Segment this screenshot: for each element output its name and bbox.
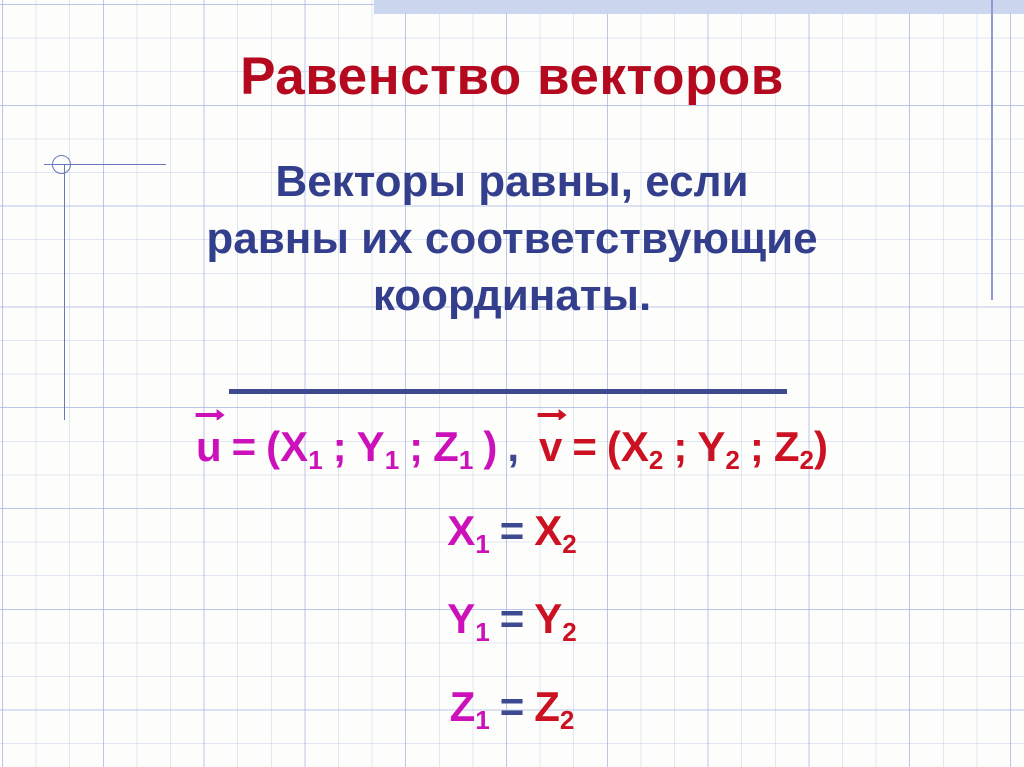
vector-v: v (539, 424, 562, 468)
v-equals: = (572, 423, 597, 470)
eq-y-operator: = (500, 595, 525, 642)
slide-canvas: Равенство векторов Векторы равны, если р… (0, 0, 1024, 767)
statement-line-1: Векторы равны, если (38, 153, 986, 210)
equation-row-y: Y1=Y2 (0, 598, 1024, 645)
formula-comma: , (507, 423, 519, 470)
eq-x-operator: = (500, 507, 525, 554)
v-sep-1: ; (673, 423, 687, 470)
right-vertical-rule (991, 0, 993, 300)
v-z: Z2 (774, 423, 814, 470)
page-title: Равенство векторов (0, 50, 1024, 103)
u-y: Y1 (357, 423, 400, 470)
u-sep-1: ; (333, 423, 347, 470)
eq-z-left: Z1 (450, 683, 490, 730)
eq-y-left: Y1 (447, 595, 490, 642)
v-x: X2 (621, 423, 664, 470)
equation-row-x: X1=X2 (0, 510, 1024, 557)
u-sep-2: ; (409, 423, 423, 470)
eq-x-left: X1 (447, 507, 490, 554)
statement-block: Векторы равны, если равны их соответству… (38, 153, 986, 325)
eq-y-right: Y2 (534, 595, 577, 642)
eq-z-right: Z2 (534, 683, 574, 730)
vector-u: u (196, 424, 222, 468)
top-blue-band (374, 0, 1024, 14)
u-z: Z1 (433, 423, 473, 470)
vector-u-letter: u (196, 426, 222, 468)
v-y: Y2 (697, 423, 740, 470)
vector-definitions-row: u=(X1;Y1;Z1),v=(X2;Y2;Z2) (0, 424, 1024, 473)
vector-arrow-icon (536, 408, 566, 420)
v-close-paren: ) (814, 423, 828, 470)
equation-row-z: Z1=Z2 (0, 686, 1024, 733)
eq-z-operator: = (500, 683, 525, 730)
vector-arrow-icon (194, 408, 224, 420)
eq-x-right: X2 (534, 507, 577, 554)
statement-line-2: равны их соответствующие (38, 210, 986, 267)
u-close-paren: ) (483, 423, 497, 470)
u-x: X1 (280, 423, 323, 470)
v-sep-2: ; (750, 423, 764, 470)
v-open-paren: ( (607, 423, 621, 470)
vector-v-letter: v (539, 426, 562, 468)
u-open-paren: ( (266, 423, 280, 470)
section-divider (229, 389, 787, 394)
u-equals: = (232, 423, 257, 470)
statement-line-3: координаты. (38, 267, 986, 324)
